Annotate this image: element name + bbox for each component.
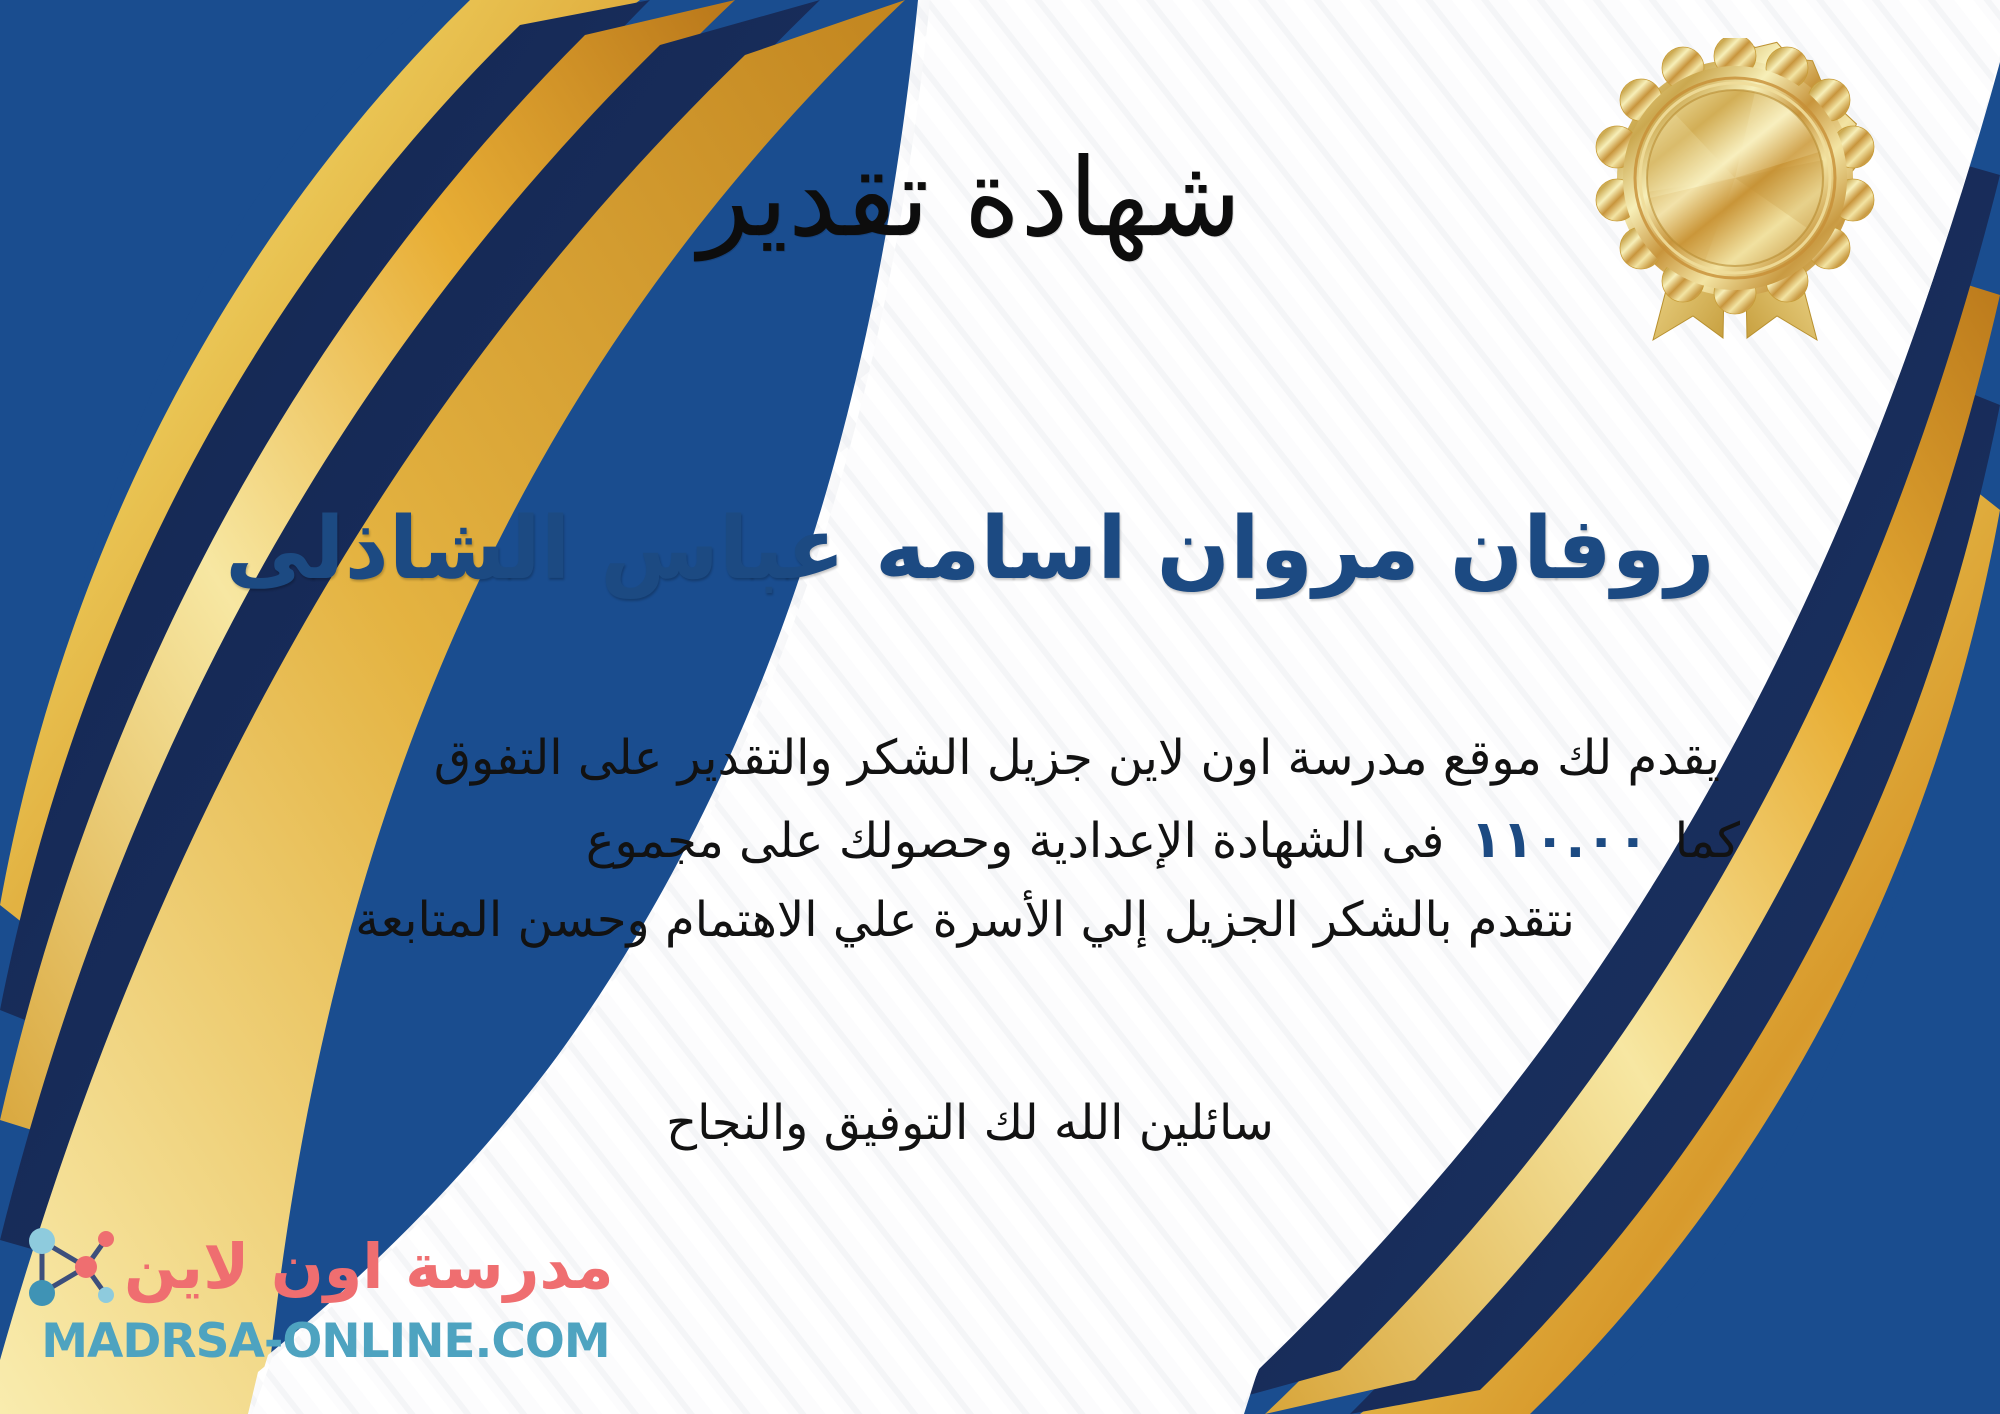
recipient-name: روفان مروان اسامه عباس الشاذلى [150, 500, 1790, 599]
brand-logo[interactable]: مدرسة اون لاين MADRSA-ONLINE.COM [22, 1219, 614, 1366]
logo-arabic-name: مدرسة اون لاين [124, 1236, 614, 1298]
score-value: ١١٠.٠٠ [1444, 810, 1674, 870]
body-line-2-prefix: فى الشهادة الإعدادية وحصولك على مجموع [586, 813, 1444, 869]
body-line-1: يقدم لك موقع مدرسة اون لاين جزيل الشكر و… [170, 720, 1760, 798]
page-title: شهادة تقدير [150, 140, 1790, 259]
closing-wish: سائلين الله لك التوفيق والنجاح [150, 1090, 1790, 1157]
network-nodes-icon [22, 1219, 114, 1315]
logo-website: MADRSA-ONLINE.COM [41, 1317, 609, 1366]
logo-arabic-row: مدرسة اون لاين [22, 1219, 614, 1315]
body-line-2-suffix: كما [1675, 813, 1740, 869]
certificate-canvas: شهادة تقدير روفان مروان اسامه عباس الشاذ… [0, 0, 2000, 1414]
certificate-body: يقدم لك موقع مدرسة اون لاين جزيل الشكر و… [170, 720, 1760, 960]
body-line-3: نتقدم بالشكر الجزيل إلي الأسرة علي الاهت… [170, 882, 1760, 960]
body-line-2: كما١١٠.٠٠فى الشهادة الإعدادية وحصولك على… [170, 798, 1760, 882]
gold-award-rosette-icon [1585, 38, 1885, 348]
